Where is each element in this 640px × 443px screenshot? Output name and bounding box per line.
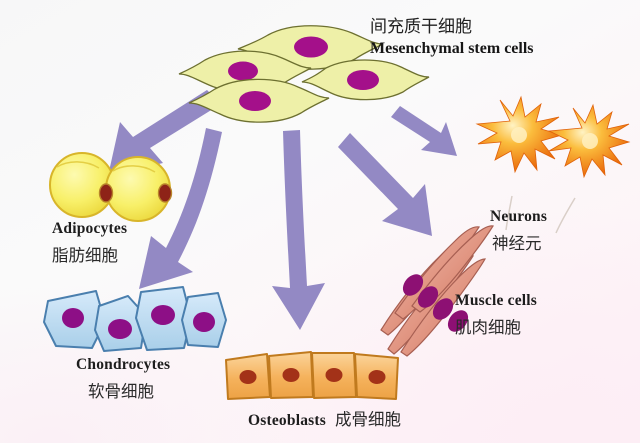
osteoblast-cells	[226, 352, 398, 399]
osteoblasts-label-en: Osteoblasts	[248, 412, 326, 430]
label-neurons: Neurons 神经元	[490, 208, 547, 254]
chondrocytes-label-cn: 软骨细胞	[88, 378, 170, 402]
label-adipocytes: Adipocytes 脂肪细胞	[52, 220, 127, 266]
adipocyte-cells	[50, 153, 172, 221]
arrow-to-osteoblasts	[272, 130, 325, 330]
chondrocytes-label-en: Chondrocytes	[76, 356, 170, 374]
differentiation-diagram: 间充质干细胞 Mesenchymal stem cells Adipocytes…	[0, 0, 640, 443]
neurons-label-en: Neurons	[490, 208, 547, 226]
title-cn: 间充质干细胞	[370, 12, 534, 37]
chondrocyte-cells	[44, 287, 226, 351]
adipocytes-label-en: Adipocytes	[52, 220, 127, 238]
arrow-to-neurons	[391, 106, 457, 156]
title-en: Mesenchymal stem cells	[370, 40, 534, 58]
title-block: 间充质干细胞 Mesenchymal stem cells	[370, 12, 534, 58]
muscle-cells-label-en: Muscle cells	[455, 292, 537, 310]
muscle-cells-label-cn: 肌肉细胞	[455, 314, 537, 338]
label-osteoblasts: Osteoblasts 成骨细胞	[248, 406, 401, 430]
arrow-to-muscle-cells	[338, 133, 432, 236]
neurons-label-cn: 神经元	[492, 230, 547, 254]
label-chondrocytes: Chondrocytes 软骨细胞	[76, 356, 170, 402]
label-muscle-cells: Muscle cells 肌肉细胞	[455, 292, 537, 338]
adipocytes-label-cn: 脂肪细胞	[52, 242, 127, 266]
osteoblasts-label-cn: 成骨细胞	[335, 406, 401, 430]
